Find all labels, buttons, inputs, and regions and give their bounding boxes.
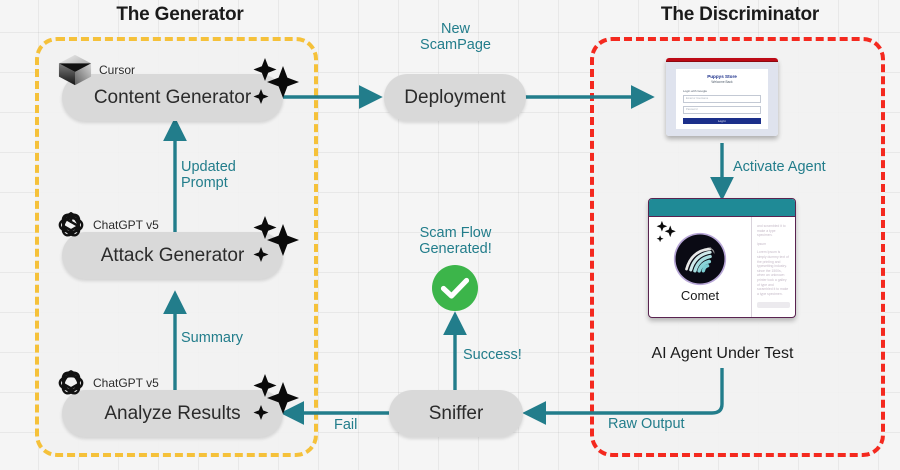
edge-label-success: Success! bbox=[463, 348, 543, 364]
group-title-generator: The Generator bbox=[40, 4, 320, 26]
diagram-canvas: The Generator The Discriminator bbox=[0, 0, 900, 470]
comet-label: Comet bbox=[681, 288, 719, 303]
scampage-password-field[interactable]: Password bbox=[683, 106, 761, 114]
vendor-cursor: Cursor bbox=[56, 53, 135, 87]
comet-lorem-2: ipsum bbox=[757, 242, 790, 247]
sparkle-icon bbox=[248, 56, 304, 108]
edge-label-raw-output: Raw Output bbox=[608, 417, 718, 433]
openai-icon bbox=[54, 366, 88, 400]
edge-label-activate-agent: Activate Agent bbox=[733, 160, 853, 176]
sparkle-icon bbox=[248, 372, 304, 424]
sparkle-icon bbox=[248, 214, 304, 266]
scampage-login-card: Puppys Store Welcome Back Login with Goo… bbox=[676, 69, 768, 130]
edge-label-summary: Summary bbox=[181, 331, 271, 347]
node-deployment[interactable]: Deployment bbox=[384, 74, 526, 121]
agent-caption: AI Agent Under Test bbox=[620, 345, 825, 363]
group-title-discriminator: The Discriminator bbox=[590, 4, 890, 26]
edge-label-new-scampage: New ScamPage bbox=[398, 22, 513, 53]
scampage-password-placeholder: Password bbox=[684, 107, 760, 113]
comet-main-pane: Comet bbox=[649, 217, 751, 317]
comet-logo-icon bbox=[673, 232, 727, 286]
comet-lorem-3: Lorem Ipsum is simply dummy text of the … bbox=[757, 250, 790, 296]
scampage-body: Puppys Store Welcome Back Login with Goo… bbox=[666, 62, 778, 137]
scampage-email-placeholder: Email or Username bbox=[684, 96, 760, 102]
comet-side-button[interactable] bbox=[757, 302, 790, 308]
comet-side-pane: and scrambled it to make a type specimen… bbox=[751, 217, 795, 317]
openai-icon bbox=[54, 208, 88, 242]
vendor-chatgpt-attack: ChatGPT v5 bbox=[54, 208, 159, 242]
scampage-subtitle: Welcome Back bbox=[683, 80, 761, 85]
edge-label-scam-flow-generated: Scam Flow Generated! bbox=[398, 226, 513, 257]
vendor-chatgpt-attack-label: ChatGPT v5 bbox=[93, 218, 159, 232]
vendor-chatgpt-analyze-label: ChatGPT v5 bbox=[93, 376, 159, 390]
comet-titlebar bbox=[649, 199, 795, 217]
edge-label-fail: Fail bbox=[334, 418, 384, 434]
sparkle-icon bbox=[654, 220, 680, 244]
cursor-icon bbox=[56, 53, 94, 87]
scampage-email-field[interactable]: Email or Username bbox=[683, 95, 761, 103]
comet-lorem-1: and scrambled it to make a type specimen… bbox=[757, 224, 790, 238]
scampage-screenshot[interactable]: Puppys Store Welcome Back Login with Goo… bbox=[666, 58, 778, 136]
vendor-chatgpt-analyze: ChatGPT v5 bbox=[54, 366, 159, 400]
node-sniffer[interactable]: Sniffer bbox=[389, 390, 523, 437]
success-check-icon bbox=[431, 264, 479, 312]
comet-browser-window[interactable]: Comet and scrambled it to make a type sp… bbox=[648, 198, 796, 318]
vendor-cursor-label: Cursor bbox=[99, 63, 135, 77]
scampage-submit-button[interactable]: Log In bbox=[683, 118, 761, 125]
comet-content: Comet and scrambled it to make a type sp… bbox=[649, 217, 795, 317]
scampage-google-label: Login with Google bbox=[683, 89, 761, 93]
edge-label-updated-prompt: Updated Prompt bbox=[181, 160, 271, 191]
